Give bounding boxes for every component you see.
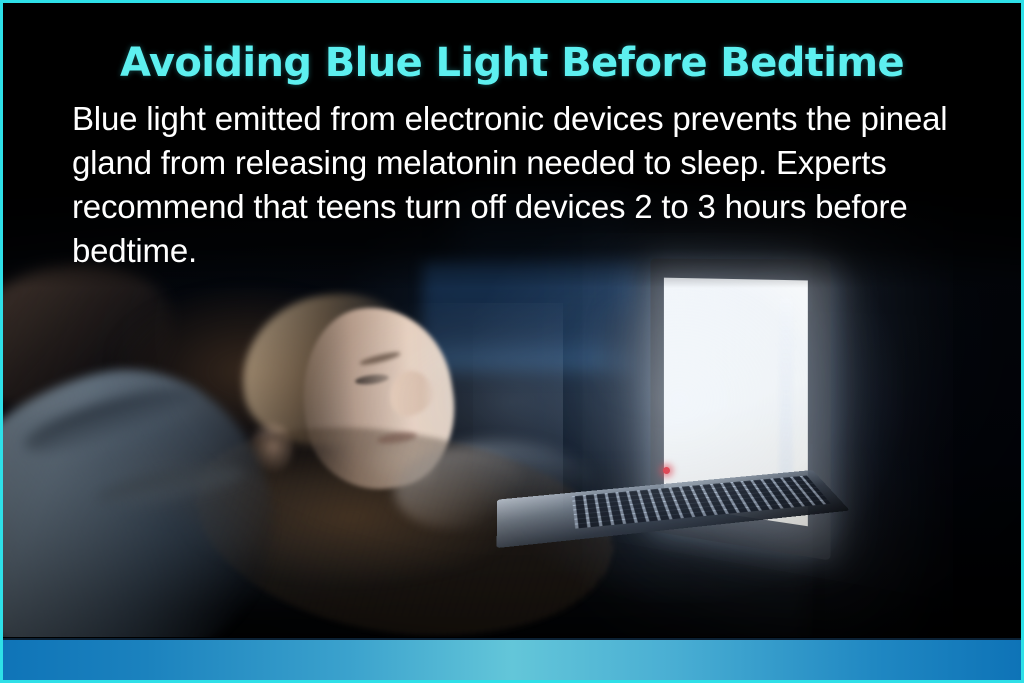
power-led-icon [663,467,670,474]
screen-edge-highlight [779,297,792,478]
text-block: Avoiding Blue Light Before Bedtime Blue … [3,3,1021,273]
body-paragraph: Blue light emitted from electronic devic… [3,83,1021,273]
laptop [511,259,861,579]
bottom-accent-bar [3,638,1021,680]
infographic-slide: Avoiding Blue Light Before Bedtime Blue … [0,0,1024,683]
page-title: Avoiding Blue Light Before Bedtime [3,3,1021,83]
